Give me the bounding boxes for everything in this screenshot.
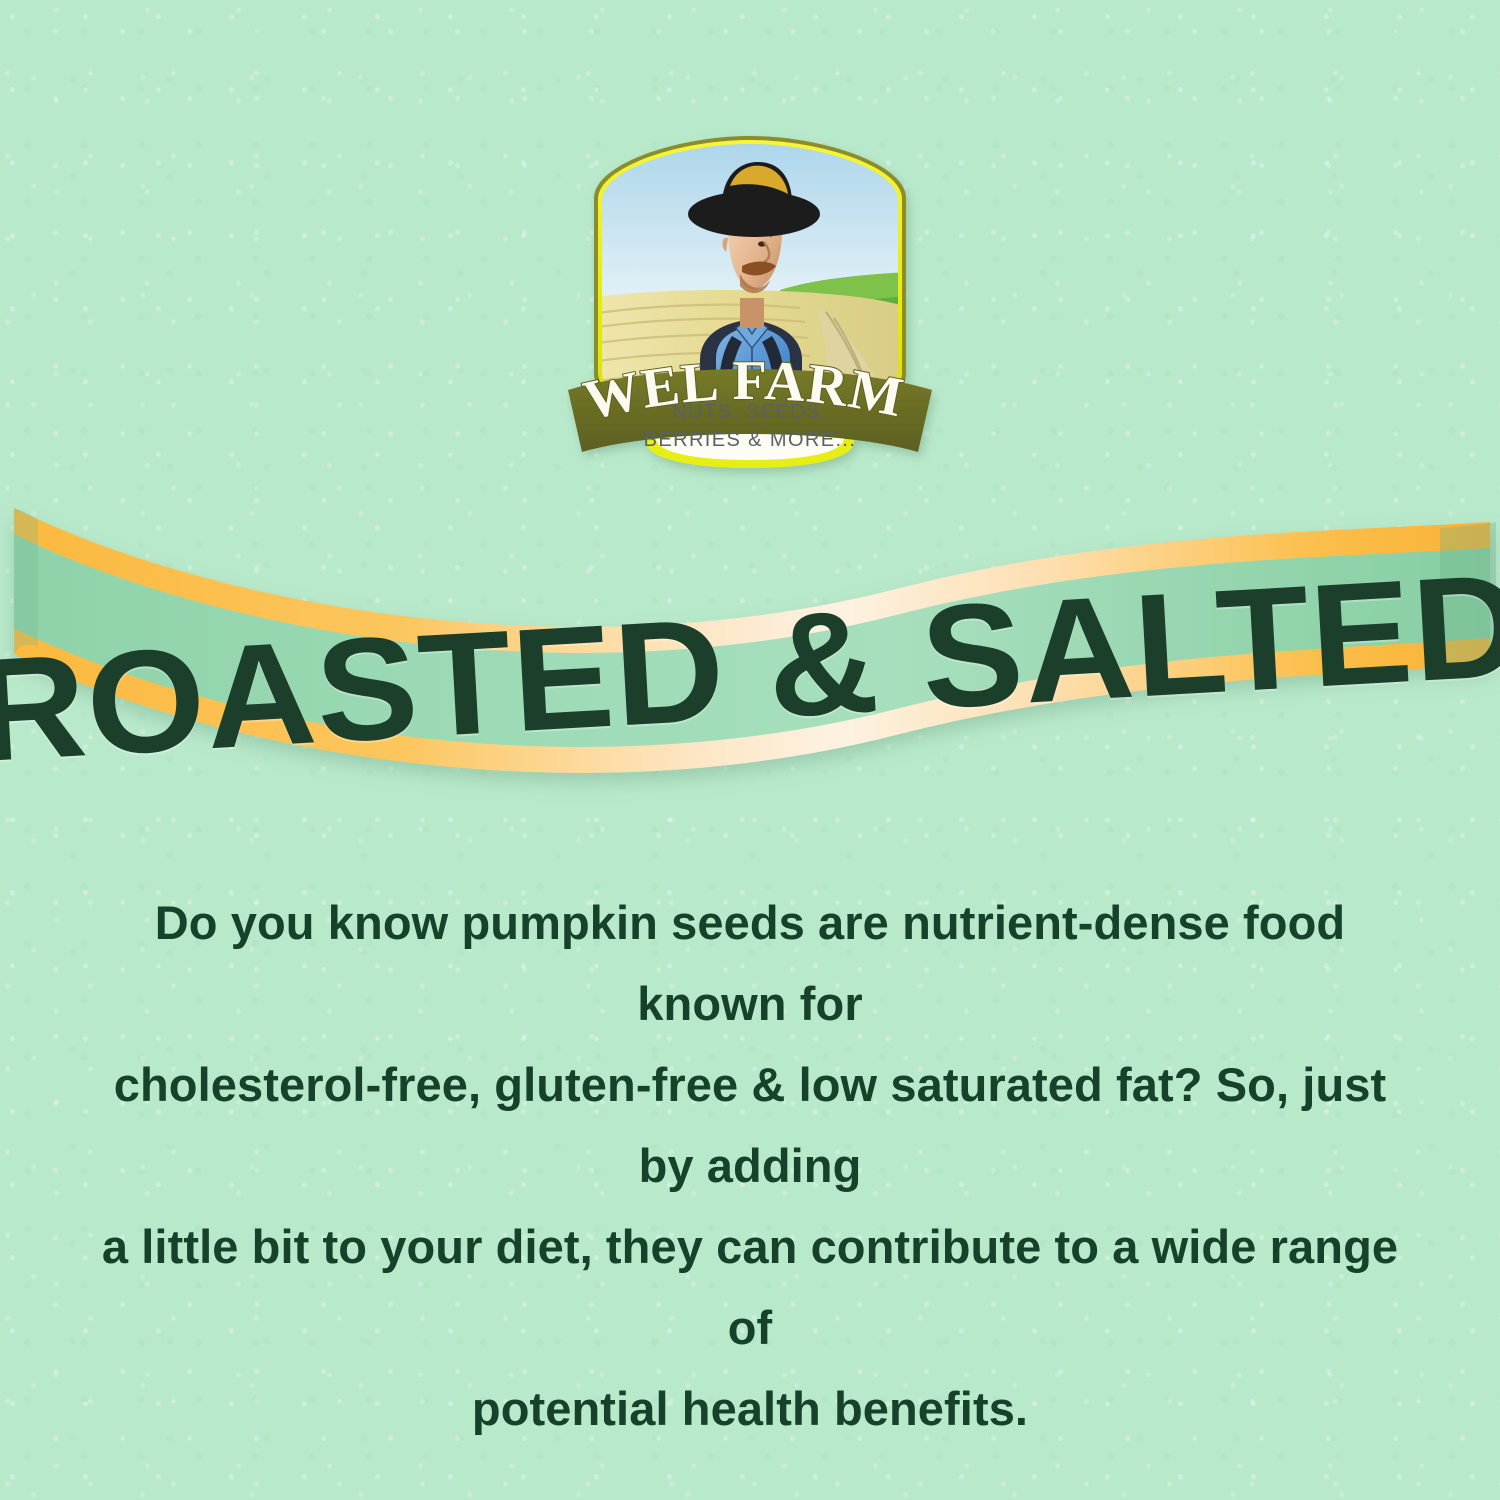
ribbon-right-fold [1440, 522, 1496, 674]
ribbon-body [14, 508, 1496, 773]
description-line: a little bit to your diet, they can cont… [100, 1206, 1400, 1368]
description-line: Do you know pumpkin seeds are nutrient-d… [100, 882, 1400, 1044]
product-description: Do you know pumpkin seeds are nutrient-d… [100, 882, 1400, 1449]
ribbon-left-fold [14, 508, 38, 654]
jewel-farmer-logo: JEWEL FARMER NUTS, SEEDS, BERRIES & MORE… [550, 122, 950, 492]
tagline-line-1: NUTS, SEEDS, [672, 401, 828, 423]
tagline-line-2: BERRIES & MORE... [644, 429, 857, 451]
neck [740, 298, 764, 328]
description-line: cholesterol-free, gluten-free & low satu… [100, 1044, 1400, 1206]
roasted-and-salted-banner [0, 478, 1500, 858]
ribbon-artwork [0, 478, 1500, 858]
description-line: potential health benefits. [100, 1368, 1400, 1449]
logo-artwork: JEWEL FARMER NUTS, SEEDS, BERRIES & MORE… [550, 122, 950, 492]
